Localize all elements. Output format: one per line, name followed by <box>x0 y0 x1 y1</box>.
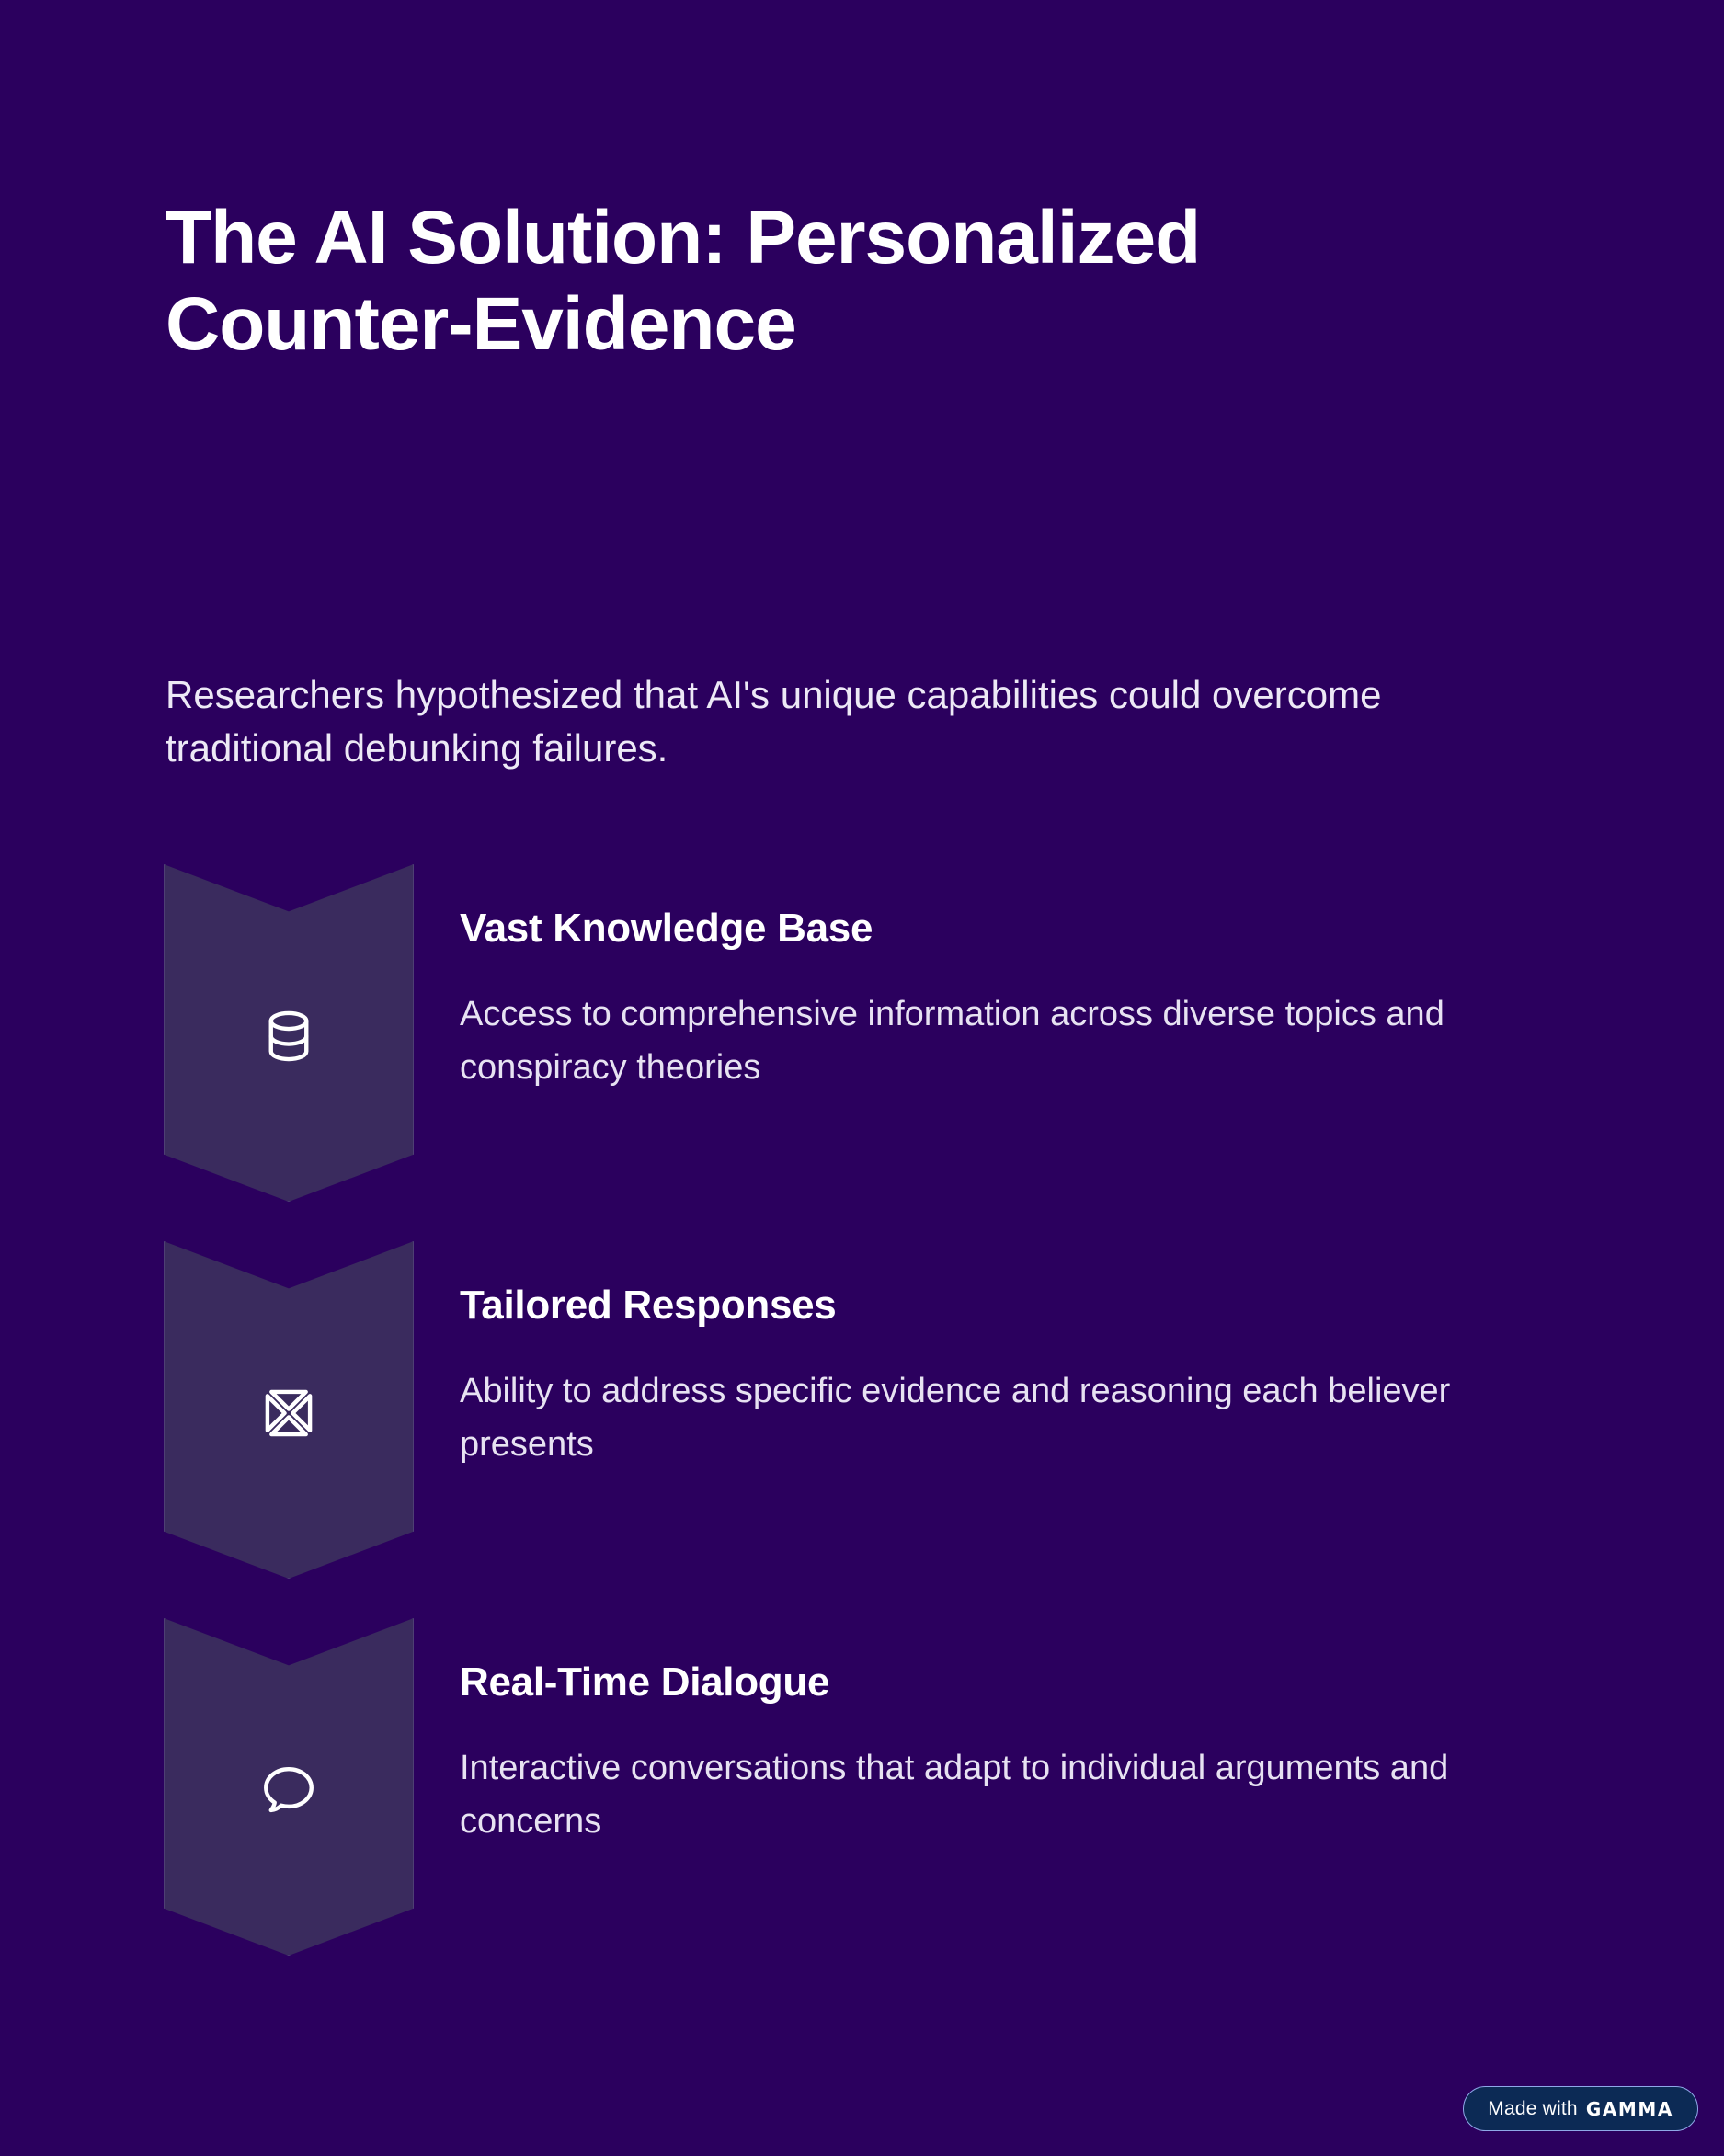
feature-icon-ribbon <box>164 1241 414 1579</box>
feature-description: Interactive conversations that adapt to … <box>460 1742 1545 1849</box>
feature-title: Real-Time Dialogue <box>460 1659 1600 1707</box>
feature-item-tailored-responses: Tailored Responses Ability to address sp… <box>0 1241 1724 1618</box>
database-icon <box>258 1000 319 1067</box>
made-with-gamma-badge[interactable]: Made with GAMMA <box>1463 2086 1698 2131</box>
speech-bubble-icon <box>258 1754 319 1820</box>
page-title: The AI Solution: Personalized Counter-Ev… <box>166 195 1361 369</box>
feature-item-real-time-dialogue: Real-Time Dialogue Interactive conversat… <box>0 1618 1724 1995</box>
feature-title: Vast Knowledge Base <box>460 905 1600 953</box>
feature-text-block: Real-Time Dialogue Interactive conversat… <box>460 1659 1600 1848</box>
feature-text-block: Vast Knowledge Base Access to comprehens… <box>460 905 1600 1094</box>
slide-subtitle: Researchers hypothesized that AI's uniqu… <box>166 668 1480 775</box>
feature-description: Access to comprehensive information acro… <box>460 988 1545 1095</box>
feature-description: Ability to address specific evidence and… <box>460 1365 1545 1472</box>
feature-icon-ribbon <box>164 1618 414 1956</box>
badge-prefix-label: Made with <box>1488 2098 1578 2120</box>
feature-item-vast-knowledge-base: Vast Knowledge Base Access to comprehens… <box>0 864 1724 1241</box>
slide-root: The AI Solution: Personalized Counter-Ev… <box>0 0 1724 2156</box>
feature-icon-ribbon <box>164 864 414 1202</box>
feature-title: Tailored Responses <box>460 1282 1600 1330</box>
feature-text-block: Tailored Responses Ability to address sp… <box>460 1282 1600 1471</box>
badge-brand-label: GAMMA <box>1586 2098 1673 2120</box>
arrows-collapse-icon <box>258 1377 319 1443</box>
feature-list: Vast Knowledge Base Access to comprehens… <box>0 864 1724 1995</box>
